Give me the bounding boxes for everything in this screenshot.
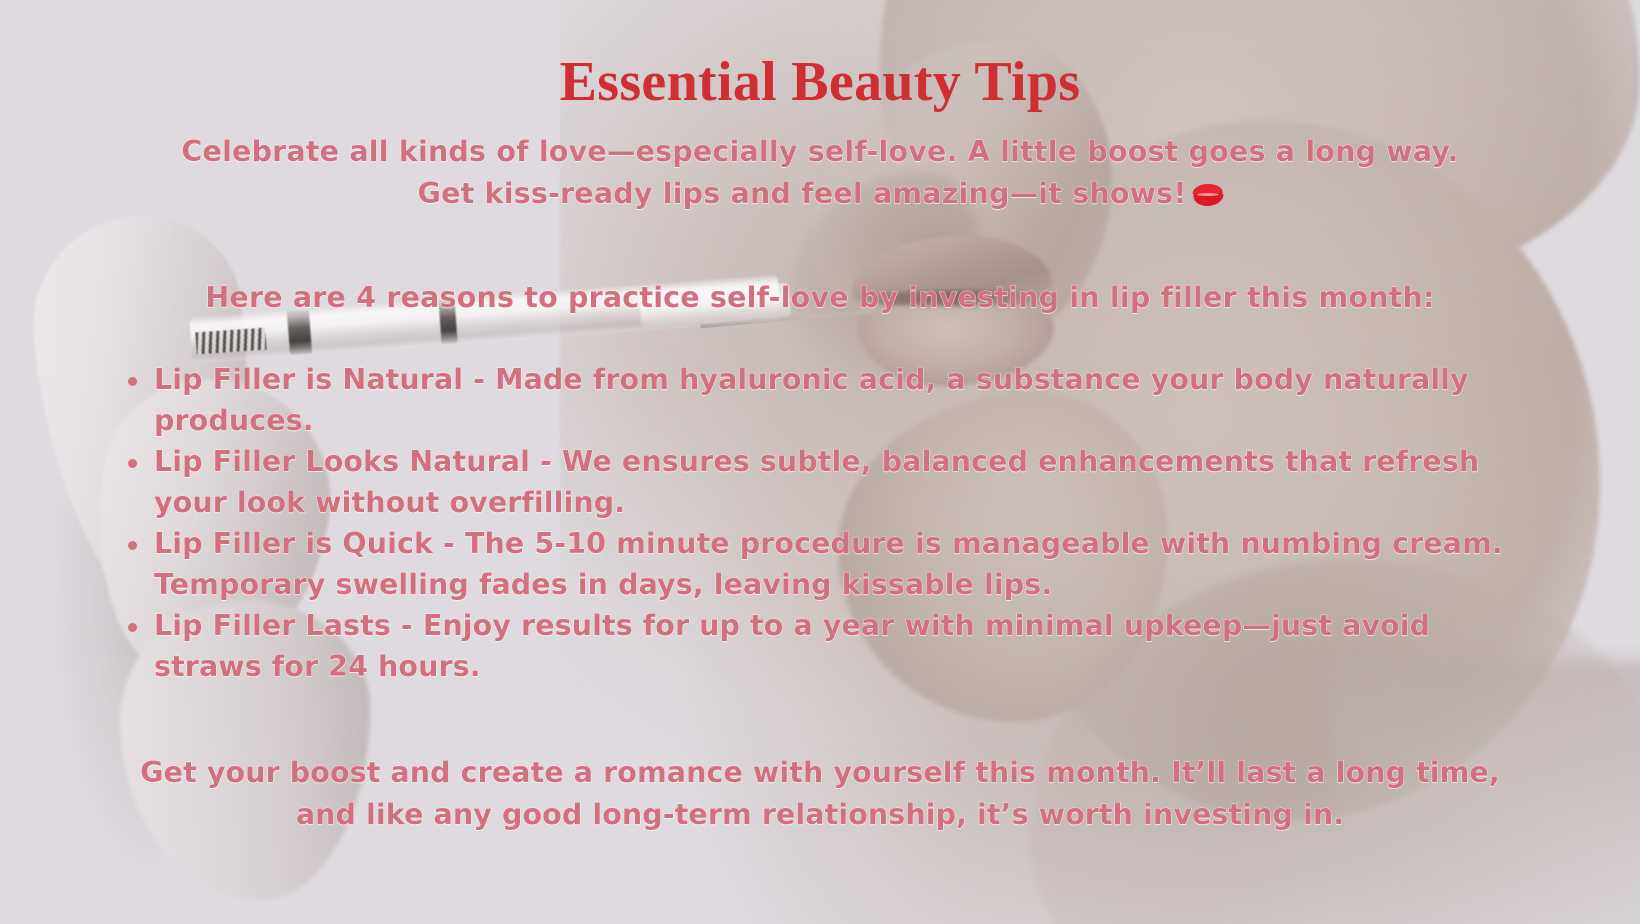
list-item: Lip Filler Looks Natural - We ensures su…: [118, 441, 1518, 523]
page-title: Essential Beauty Tips: [0, 52, 1640, 114]
closing-line-1: Get your boost and create a romance with…: [140, 756, 1500, 789]
kiss-lips-emoji: [1193, 184, 1223, 206]
poster-content: Essential Beauty Tips Celebrate all kind…: [0, 0, 1640, 924]
closing-paragraph: Get your boost and create a romance with…: [30, 752, 1610, 836]
intro-paragraph: Celebrate all kinds of love—especially s…: [70, 131, 1570, 215]
beauty-tips-poster: Essential Beauty Tips Celebrate all kind…: [0, 0, 1640, 924]
intro-line-1: Celebrate all kinds of love—especially s…: [181, 135, 1458, 168]
list-item: Lip Filler Lasts - Enjoy results for up …: [118, 605, 1518, 687]
reasons-heading: Here are 4 reasons to practice self-love…: [70, 278, 1570, 318]
kiss-lips-gap: [1197, 193, 1219, 196]
intro-line-2: Get kiss-ready lips and feel amazing—it …: [417, 177, 1186, 210]
closing-line-2: and like any good long-term relationship…: [296, 798, 1344, 831]
list-item: Lip Filler is Quick - The 5-10 minute pr…: [118, 523, 1518, 605]
list-item: Lip Filler is Natural - Made from hyalur…: [118, 359, 1518, 441]
reasons-list: Lip Filler is Natural - Made from hyalur…: [118, 359, 1518, 687]
